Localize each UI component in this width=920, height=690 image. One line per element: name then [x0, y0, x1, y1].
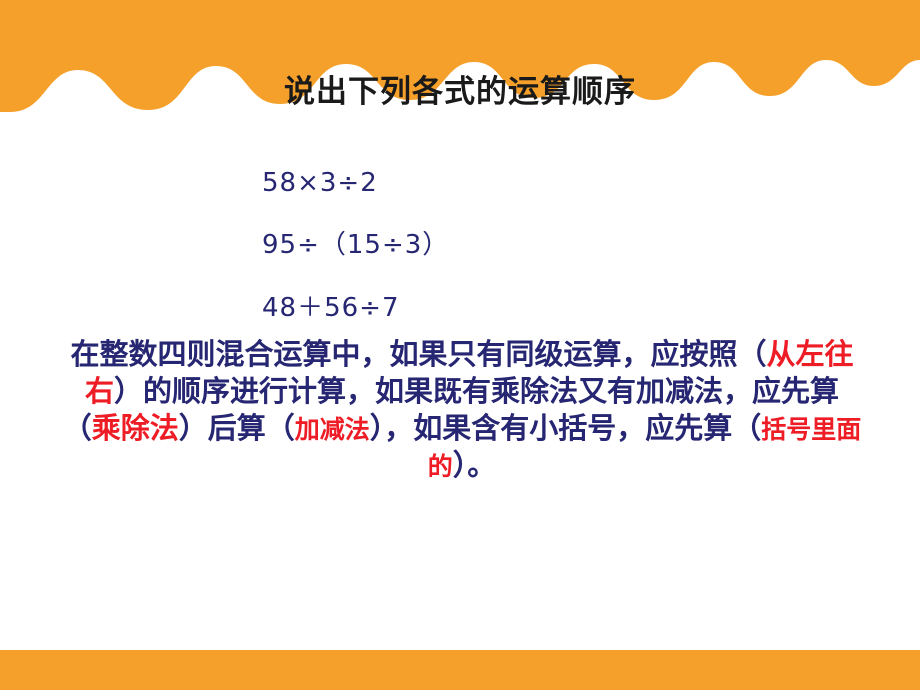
expression-item-3: 48＋56÷7 [262, 287, 682, 324]
page-title: 说出下列各式的运算顺序 [0, 66, 920, 111]
bottom-accent-bar [0, 650, 920, 690]
expression-item-2: 95÷（15÷3） [262, 224, 682, 261]
expression-list: 58×3÷2 95÷（15÷3） 48＋56÷7 [262, 168, 682, 350]
answer-blank-3: 加减法 [295, 415, 370, 444]
paragraph-segment-5: ）。 [453, 448, 497, 482]
answer-blank-2: 乘除法 [92, 411, 179, 445]
expression-item-1: 58×3÷2 [262, 168, 682, 198]
rule-paragraph: 在整数四则混合运算中，如果只有同级运算，应按照（从左往右）的顺序进行计算，如果既… [56, 336, 868, 484]
paragraph-segment-4: ），如果含有小括号，应先算（ [370, 411, 762, 445]
slide-canvas: 说出下列各式的运算顺序 58×3÷2 95÷（15÷3） 48＋56÷7 在整数… [0, 0, 920, 690]
paragraph-segment-3: ）后算（ [179, 411, 295, 445]
paragraph-segment-1: 在整数四则混合运算中，如果只有同级运算，应按照（ [70, 337, 766, 371]
